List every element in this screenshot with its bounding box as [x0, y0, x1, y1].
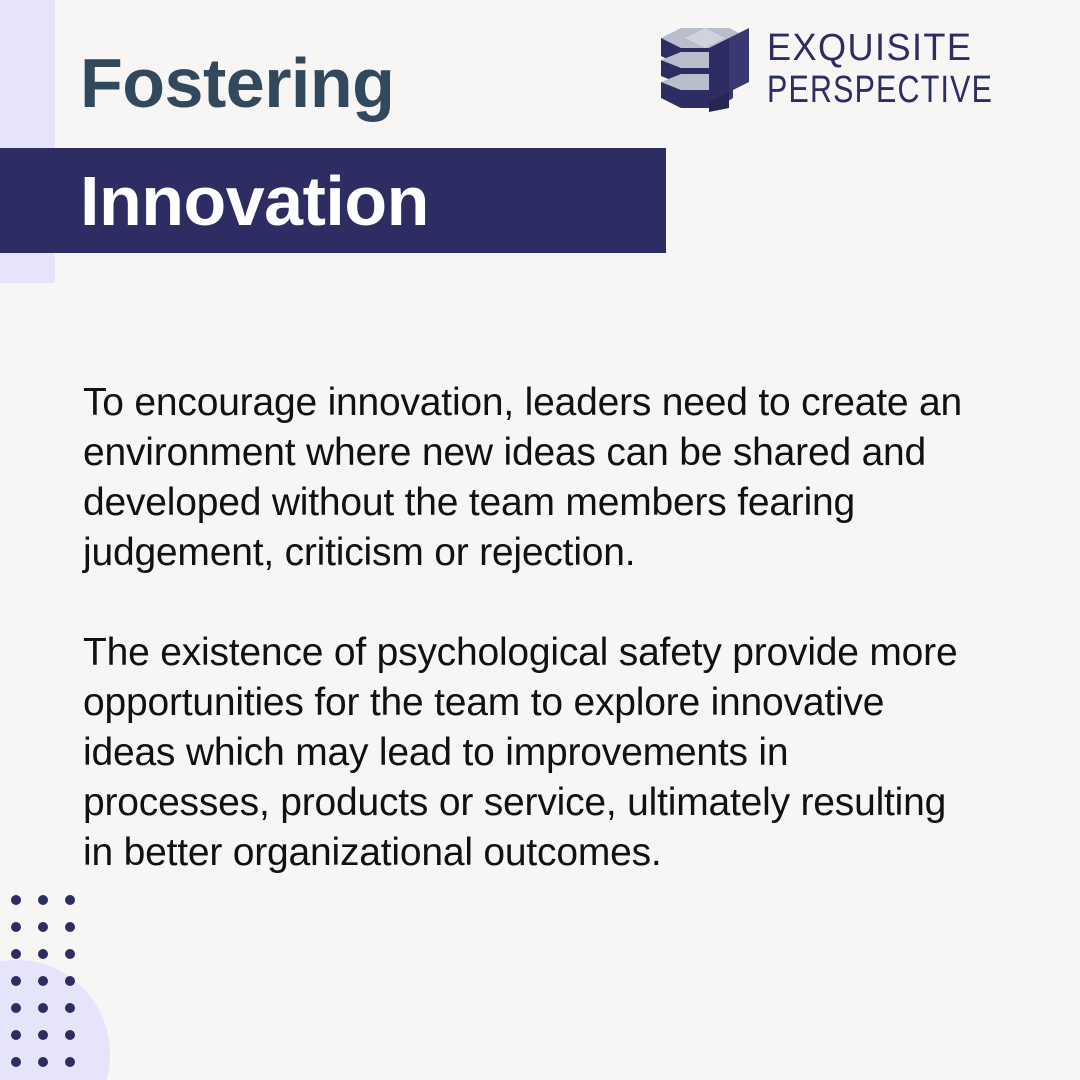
- decorative-dot: [38, 1030, 48, 1040]
- decorative-dot: [65, 1003, 75, 1013]
- decorative-dot: [65, 895, 75, 905]
- headline-highlight-band: Innovation: [0, 148, 666, 253]
- headline-block: Fostering Innovation: [0, 48, 666, 253]
- decorative-dot: [11, 949, 21, 959]
- wordmark-line-1: EXQUISITE: [767, 29, 1035, 67]
- ep-monogram-icon: [659, 26, 755, 112]
- decorative-dot: [11, 1003, 21, 1013]
- body-paragraph: To encourage innovation, leaders need to…: [83, 378, 983, 578]
- brand-wordmark: EXQUISITE PERSPECTIVE: [767, 29, 1050, 109]
- slide-canvas: EXQUISITE PERSPECTIVE Fostering Innovati…: [0, 0, 1080, 1080]
- headline-primary: Fostering: [0, 48, 666, 148]
- decorative-dot-grid: [11, 895, 92, 1080]
- decorative-dot: [65, 922, 75, 932]
- brand-logo: EXQUISITE PERSPECTIVE: [659, 26, 1050, 112]
- body-copy: To encourage innovation, leaders need to…: [83, 378, 983, 878]
- decorative-dot: [11, 922, 21, 932]
- decorative-dot: [65, 949, 75, 959]
- decorative-dot: [11, 976, 21, 986]
- decorative-dot: [11, 1030, 21, 1040]
- decorative-dot: [65, 976, 75, 986]
- decorative-dot: [38, 895, 48, 905]
- decorative-dot: [38, 1003, 48, 1013]
- decorative-dot: [38, 976, 48, 986]
- decorative-dot: [38, 949, 48, 959]
- decorative-dot: [38, 922, 48, 932]
- decorative-dot: [11, 1057, 21, 1067]
- headline-secondary: Innovation: [80, 166, 429, 236]
- decorative-dot: [38, 1057, 48, 1067]
- decorative-dot: [65, 1057, 75, 1067]
- wordmark-line-2: PERSPECTIVE: [767, 71, 993, 109]
- body-paragraph: The existence of psychological safety pr…: [83, 628, 983, 878]
- decorative-dot: [65, 1030, 75, 1040]
- decorative-dot: [11, 895, 21, 905]
